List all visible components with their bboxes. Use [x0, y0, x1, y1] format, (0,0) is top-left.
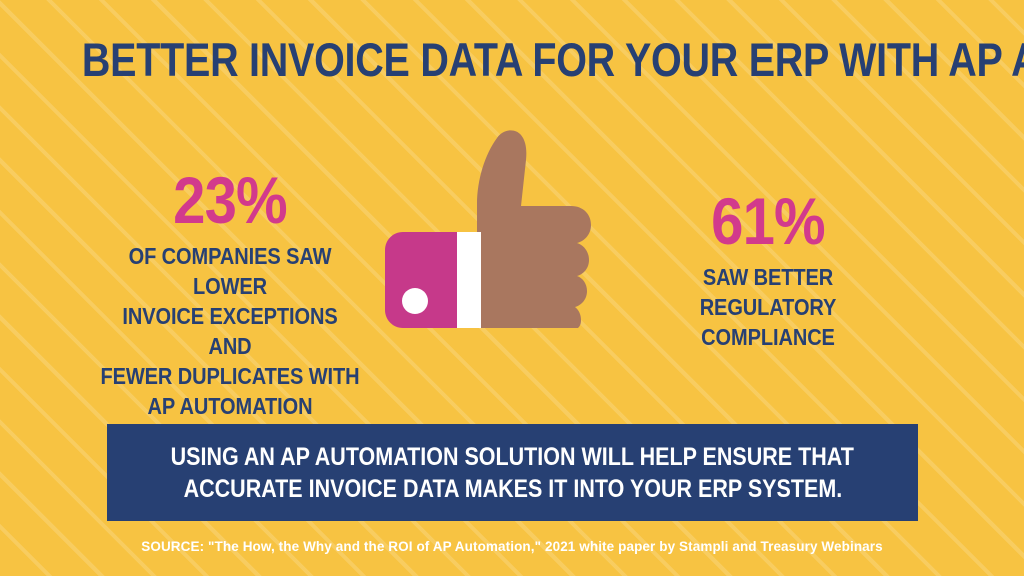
stat-right-caption-line: SAW BETTER REGULATORY: [646, 262, 890, 322]
page-title: BETTER INVOICE DATA FOR YOUR ERP WITH AP…: [82, 34, 942, 86]
stat-right-caption-line: COMPLIANCE: [646, 322, 890, 352]
stat-right-caption: SAW BETTER REGULATORY COMPLIANCE: [646, 262, 890, 352]
sleeve-cuff: [385, 232, 457, 328]
stat-left-caption-line: FEWER DUPLICATES WITH: [100, 361, 361, 391]
stat-left-caption-line: OF COMPANIES SAW LOWER: [100, 241, 361, 301]
thumbs-up-icon: [385, 128, 597, 328]
stat-left-caption-line: INVOICE EXCEPTIONS AND: [100, 301, 361, 361]
infographic-canvas: BETTER INVOICE DATA FOR YOUR ERP WITH AP…: [0, 0, 1024, 576]
banner-line-1: USING AN AP AUTOMATION SOLUTION WILL HEL…: [171, 441, 854, 473]
source-citation: SOURCE: "The How, the Why and the ROI of…: [0, 538, 1024, 556]
sleeve-band: [455, 232, 481, 328]
callout-banner: USING AN AP AUTOMATION SOLUTION WILL HEL…: [107, 424, 918, 521]
hand-shape: [477, 130, 591, 328]
stat-left-caption: OF COMPANIES SAW LOWER INVOICE EXCEPTION…: [100, 241, 361, 421]
stat-left-caption-line: AP AUTOMATION: [100, 391, 361, 421]
stat-block-right: 61% SAW BETTER REGULATORY COMPLIANCE: [628, 186, 908, 352]
stat-left-value: 23%: [98, 165, 362, 235]
thumbs-up-graphic: [385, 128, 597, 328]
stat-right-value: 61%: [645, 186, 891, 256]
stat-block-left: 23% OF COMPANIES SAW LOWER INVOICE EXCEP…: [80, 165, 380, 421]
cuff-button-icon: [402, 288, 428, 314]
banner-line-2: ACCURATE INVOICE DATA MAKES IT INTO YOUR…: [183, 473, 842, 505]
